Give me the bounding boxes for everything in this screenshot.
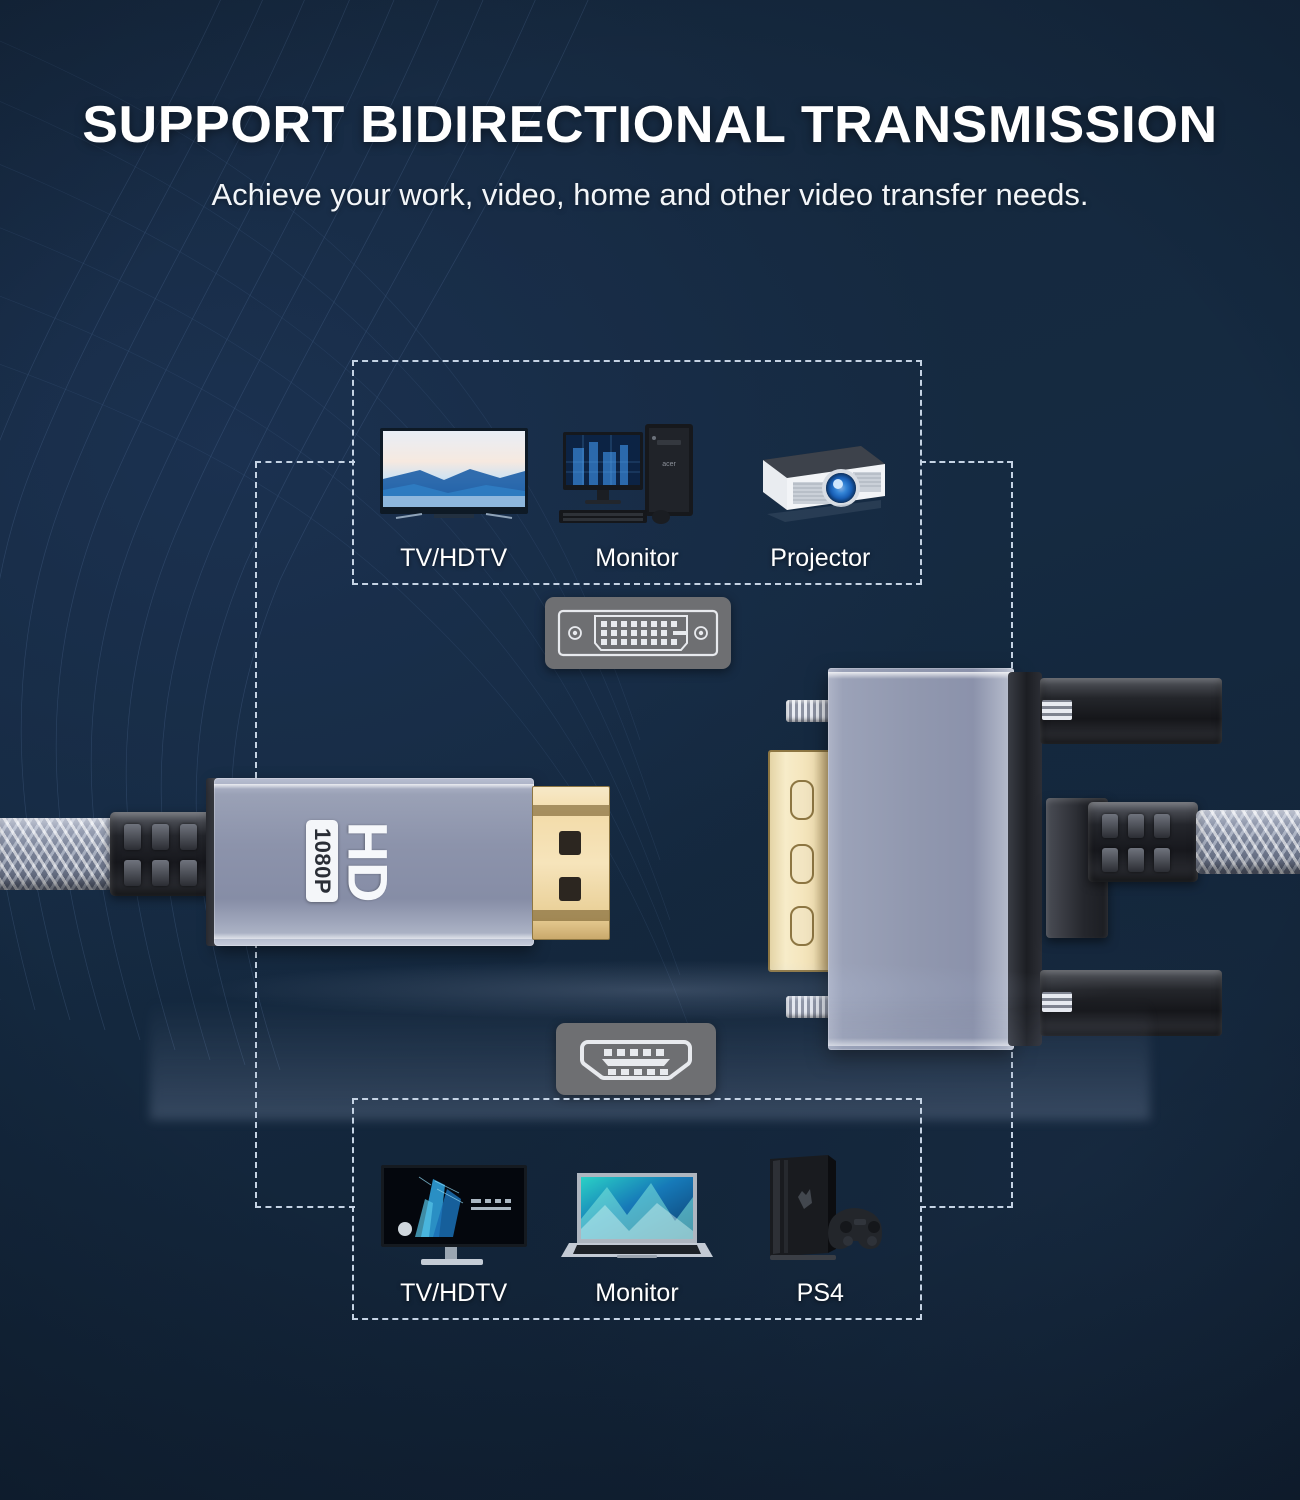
device-label: Projector <box>770 544 870 573</box>
cable-ferrule-bottom <box>1042 992 1072 1012</box>
device-label: Monitor <box>595 1279 678 1308</box>
adapter-back-cap <box>1008 672 1042 1046</box>
routing-line-right-top <box>920 461 1013 463</box>
routing-line-right-bottom <box>920 1206 1013 1208</box>
hdmi-gold-contact <box>532 786 610 940</box>
cable-ferrule-top <box>1042 700 1072 720</box>
television-icon <box>368 1153 540 1271</box>
product-hardware-scene: 1080P HD <box>0 640 1300 1060</box>
dvi-pin-slot <box>790 844 814 884</box>
television-icon <box>368 418 540 536</box>
thumbscrew-bottom <box>786 996 832 1018</box>
device-label: PS4 <box>797 1279 844 1308</box>
hdmi-port-icon <box>556 1023 716 1095</box>
hd-logo: HD <box>344 812 390 912</box>
resolution-badge-label: 1080P <box>309 828 335 894</box>
dvi-gold-contact <box>768 750 834 972</box>
braided-cable-left <box>0 818 116 890</box>
connector-pin <box>559 877 581 901</box>
device-projector-top: Projector <box>734 418 906 573</box>
device-monitor-top: acer <box>551 418 723 573</box>
braided-cable-right <box>1196 810 1300 874</box>
device-label: Monitor <box>595 544 678 573</box>
routing-line-left-bottom <box>255 1206 355 1208</box>
projector-icon <box>734 418 906 536</box>
device-monitor-bottom: Monitor <box>551 1153 723 1308</box>
output-device-group: TV/HDTV acer <box>352 360 922 585</box>
dvi-pin-slot <box>790 780 814 820</box>
device-label: TV/HDTV <box>400 1279 507 1308</box>
connector-pin <box>559 831 581 855</box>
dvi-pin-slot <box>790 906 814 946</box>
header: SUPPORT BIDIRECTIONAL TRANSMISSION Achie… <box>0 0 1300 213</box>
page-subtitle: Achieve your work, video, home and other… <box>0 177 1300 213</box>
routing-line-left-top <box>255 461 355 463</box>
laptop-icon <box>551 1153 723 1271</box>
source-device-group: TV/HDTV <box>352 1098 922 1320</box>
game-console-icon <box>734 1153 906 1271</box>
svg-text:acer: acer <box>662 461 676 468</box>
thumbscrew-top <box>786 700 832 722</box>
device-ps4-bottom: PS4 <box>734 1153 906 1308</box>
dvi-adapter <box>762 668 1014 1050</box>
resolution-badge: 1080P <box>306 820 338 902</box>
hdmi-male-connector: 1080P HD <box>214 778 534 946</box>
desktop-computer-icon: acer <box>551 418 723 536</box>
controller <box>828 1208 882 1249</box>
hd-logo-label: HD <box>339 822 395 903</box>
strain-relief-boot-right <box>1088 802 1198 882</box>
device-tv-hdtv-top: TV/HDTV <box>368 418 540 573</box>
adapter-housing <box>828 668 1014 1050</box>
device-tv-hdtv-bottom: TV/HDTV <box>368 1153 540 1308</box>
strain-relief-boot-left <box>110 812 214 896</box>
device-label: TV/HDTV <box>400 544 507 573</box>
product-feature-banner: SUPPORT BIDIRECTIONAL TRANSMISSION Achie… <box>0 0 1300 1500</box>
page-title: SUPPORT BIDIRECTIONAL TRANSMISSION <box>0 98 1300 153</box>
